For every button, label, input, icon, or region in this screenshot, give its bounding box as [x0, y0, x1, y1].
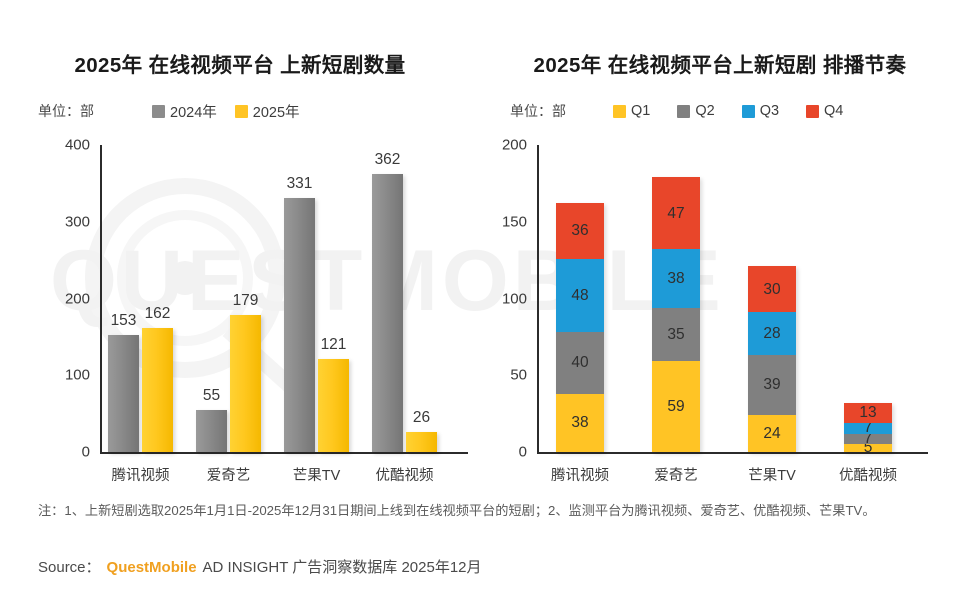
- stack-segment-value-label: 47: [667, 206, 684, 222]
- chart-panel-grouped: 2025年 在线视频平台 上新短剧数量 单位：部 2024年2025年 4003…: [0, 0, 480, 492]
- stack-segment[interactable]: 59: [652, 361, 700, 452]
- y-axis-line: [100, 145, 102, 453]
- bar[interactable]: [108, 335, 139, 452]
- bar-value-label: 153: [111, 312, 137, 330]
- y-axis-tick-label: 300: [38, 213, 90, 230]
- stack-segment[interactable]: 35: [652, 308, 700, 362]
- stack-segment-value-label: 48: [571, 288, 588, 304]
- bar-value-label: 121: [321, 336, 347, 354]
- y-axis-tick-label: 0: [38, 444, 90, 461]
- stack-segment-value-label: 38: [571, 415, 588, 431]
- bar[interactable]: [406, 432, 437, 452]
- x-axis-tick-label: 芒果TV: [293, 464, 341, 485]
- stacked-bar[interactable]: 57713: [844, 403, 892, 452]
- stack-segment[interactable]: 39: [748, 355, 796, 415]
- source-brand: QuestMobile: [107, 559, 197, 576]
- x-axis-tick-label: 爱奇艺: [207, 464, 251, 485]
- stack-segment-value-label: 38: [667, 271, 684, 287]
- stack-segment-value-label: 59: [667, 399, 684, 415]
- stack-segment[interactable]: 40: [556, 332, 604, 393]
- bar-value-label: 55: [203, 387, 220, 405]
- stack-segment-value-label: 36: [571, 223, 588, 239]
- bar-value-label: 162: [145, 305, 171, 323]
- stack-segment-value-label: 24: [763, 426, 780, 442]
- y-axis-tick-label: 100: [38, 367, 90, 384]
- bar-value-label: 179: [233, 292, 259, 310]
- bar[interactable]: [196, 410, 227, 452]
- y-axis-tick-label: 0: [475, 444, 527, 461]
- x-axis-tick-label: 优酷视频: [839, 464, 897, 485]
- bar[interactable]: [318, 359, 349, 452]
- bar[interactable]: [230, 315, 261, 452]
- y-axis-tick-label: 200: [38, 290, 90, 307]
- stack-segment[interactable]: 7: [844, 423, 892, 434]
- x-axis-tick-label: 芒果TV: [748, 464, 796, 485]
- bar-value-label: 362: [375, 151, 401, 169]
- x-axis-tick-label: 腾讯视频: [551, 464, 609, 485]
- bar-value-label: 26: [413, 409, 430, 427]
- source-line: Source：QuestMobileAD INSIGHT 广告洞察数据库 202…: [38, 556, 482, 577]
- y-axis-tick-label: 50: [475, 367, 527, 384]
- x-axis-tick-label: 爱奇艺: [654, 464, 698, 485]
- bar[interactable]: [372, 174, 403, 452]
- x-axis-tick-label: 腾讯视频: [112, 464, 170, 485]
- stack-segment[interactable]: 38: [556, 394, 604, 452]
- stack-segment[interactable]: 47: [652, 177, 700, 249]
- stack-segment[interactable]: 36: [556, 203, 604, 258]
- source-rest: AD INSIGHT 广告洞察数据库 2025年12月: [203, 559, 482, 576]
- stack-segment-value-label: 35: [667, 327, 684, 343]
- x-axis-line: [100, 452, 468, 454]
- stack-segment-value-label: 39: [763, 377, 780, 393]
- stack-segment-value-label: 13: [859, 405, 876, 421]
- y-axis-line: [537, 145, 539, 453]
- stacked-bar[interactable]: 38404836: [556, 203, 604, 452]
- stack-segment-value-label: 40: [571, 355, 588, 371]
- chart-panel-stacked: 2025年 在线视频平台上新短剧 排播节奏 单位：部 Q1Q2Q3Q4 2001…: [480, 0, 960, 492]
- x-axis-tick-label: 优酷视频: [376, 464, 434, 485]
- source-prefix: Source：: [38, 559, 101, 576]
- bar[interactable]: [284, 198, 315, 452]
- stack-segment[interactable]: 48: [556, 259, 604, 333]
- chart-page: QUESTMOBILE 2025年 在线视频平台 上新短剧数量 单位：部 202…: [0, 0, 960, 590]
- stacked-bar[interactable]: 59353847: [652, 177, 700, 452]
- stack-segment[interactable]: 30: [748, 266, 796, 312]
- stack-segment[interactable]: 13: [844, 403, 892, 423]
- bar[interactable]: [142, 328, 173, 452]
- stack-segment[interactable]: 24: [748, 415, 796, 452]
- stack-segment[interactable]: 38: [652, 249, 700, 307]
- stack-segment[interactable]: 28: [748, 312, 796, 355]
- plot-area-left: 40030020010001531625517933112136226腾讯视频爱…: [0, 0, 480, 492]
- bar-value-label: 331: [287, 175, 313, 193]
- plot-area-right: 2001501005003840483659353847243928305771…: [480, 0, 960, 492]
- y-axis-tick-label: 400: [38, 137, 90, 154]
- y-axis-tick-label: 100: [475, 290, 527, 307]
- stack-segment-value-label: 28: [763, 326, 780, 342]
- stacked-bar[interactable]: 24392830: [748, 266, 796, 452]
- y-axis-tick-label: 200: [475, 137, 527, 154]
- stack-segment-value-label: 30: [763, 282, 780, 298]
- y-axis-tick-label: 150: [475, 213, 527, 230]
- footnote: 注：1、上新短剧选取2025年1月1日-2025年12月31日期间上线到在线视频…: [38, 500, 924, 521]
